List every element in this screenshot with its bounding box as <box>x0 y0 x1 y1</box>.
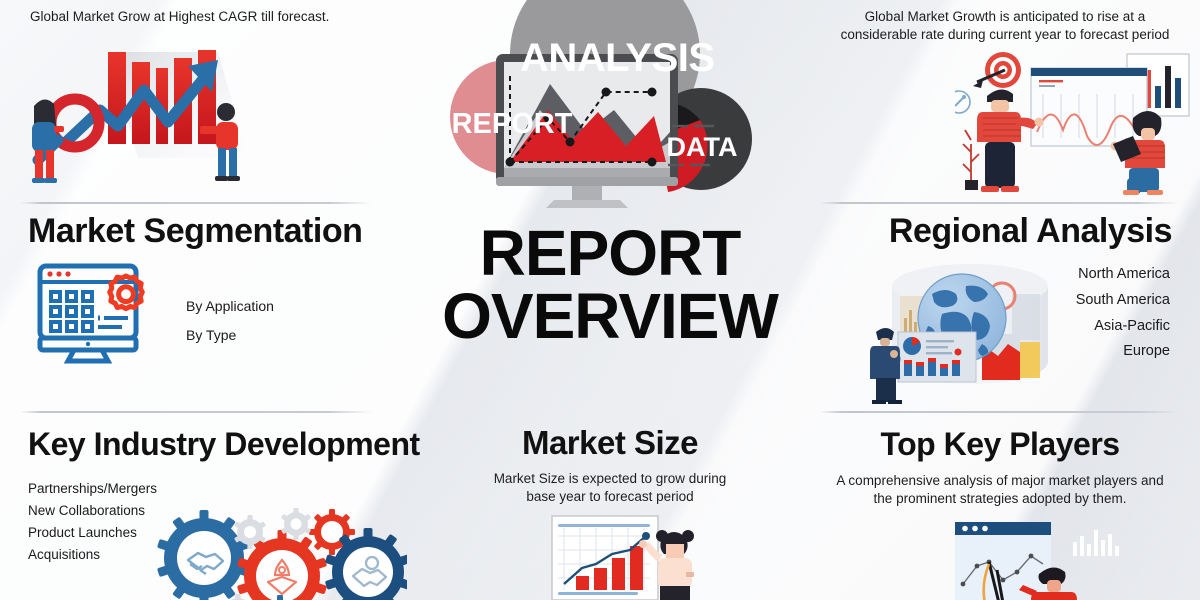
industry-item: New Collaborations <box>28 500 157 522</box>
divider-mid-right <box>820 411 1180 413</box>
panel-global-market-cagr: Global Market Grow at Highest CAGR till … <box>0 0 400 202</box>
panel-regional-analysis: Regional Analysis <box>800 206 1200 411</box>
region-item: Europe <box>990 339 1170 365</box>
infographic-canvas: Global Market Grow at Highest CAGR till … <box>0 0 1200 600</box>
presentation-target-people-illustration <box>955 52 1200 197</box>
divider-mid-left <box>20 411 372 413</box>
region-item: South America <box>990 288 1170 314</box>
industry-item: Acquisitions <box>28 544 157 566</box>
region-item: Asia-Pacific <box>990 314 1170 340</box>
browser-line-chart-person-illustration <box>945 518 1180 600</box>
segmentation-item: By Type <box>186 321 274 350</box>
industry-item: Partnerships/Mergers <box>28 478 157 500</box>
market-size-heading: Market Size <box>420 426 800 461</box>
panel-market-size: Market Size Market Size is expected to g… <box>420 418 800 600</box>
industry-item: Product Launches <box>28 522 157 544</box>
panel-global-market-growth: Global Market Growth is anticipated to r… <box>800 0 1200 202</box>
segmentation-item: By Application <box>186 292 274 321</box>
top-key-players-caption-line2: the prominent strategies adopted by them… <box>820 490 1180 508</box>
market-size-caption-line1: Market Size is expected to grow during <box>420 470 800 488</box>
key-industry-development-heading: Key Industry Development <box>28 428 420 462</box>
page-title: REPORT OVERVIEW <box>400 222 820 347</box>
global-market-cagr-caption: Global Market Grow at Highest CAGR till … <box>30 8 380 26</box>
panel-market-segmentation: Market Segmentation By Appl <box>0 206 400 411</box>
top-key-players-caption: A comprehensive analysis of major market… <box>820 472 1180 508</box>
monitor-gear-icon <box>34 260 154 365</box>
regional-analysis-heading: Regional Analysis <box>889 214 1172 250</box>
whiteboard-bar-chart-person-illustration <box>550 514 705 600</box>
panel-top-key-players: Top Key Players A comprehensive analysis… <box>800 418 1200 600</box>
divider-top-right <box>820 202 1180 204</box>
panel-key-industry-development: Key Industry Development Partnerships/Me… <box>0 418 420 600</box>
market-size-caption-line2: base year to forecast period <box>420 488 800 506</box>
region-item: North America <box>990 262 1170 288</box>
page-title-line2: OVERVIEW <box>400 285 820 348</box>
gears-handshake-rocket-illustration <box>152 506 407 600</box>
analysis-circle-label: ANALYSIS <box>520 36 700 81</box>
data-circle-label: DATA <box>652 132 752 163</box>
bar-chart-magnifier-people-illustration <box>18 38 278 193</box>
report-circle-label: REPORT <box>442 108 582 141</box>
global-market-growth-caption-line1: Global Market Growth is anticipated to r… <box>820 8 1190 26</box>
global-market-growth-caption: Global Market Growth is anticipated to r… <box>820 8 1190 44</box>
top-key-players-caption-line1: A comprehensive analysis of major market… <box>820 472 1180 490</box>
market-size-caption: Market Size is expected to grow during b… <box>420 470 800 506</box>
market-segmentation-heading: Market Segmentation <box>28 214 362 250</box>
global-market-growth-caption-line2: considerable rate during current year to… <box>820 26 1190 44</box>
top-key-players-heading: Top Key Players <box>800 428 1200 462</box>
page-title-line1: REPORT <box>400 222 820 285</box>
divider-top-left <box>20 202 372 204</box>
